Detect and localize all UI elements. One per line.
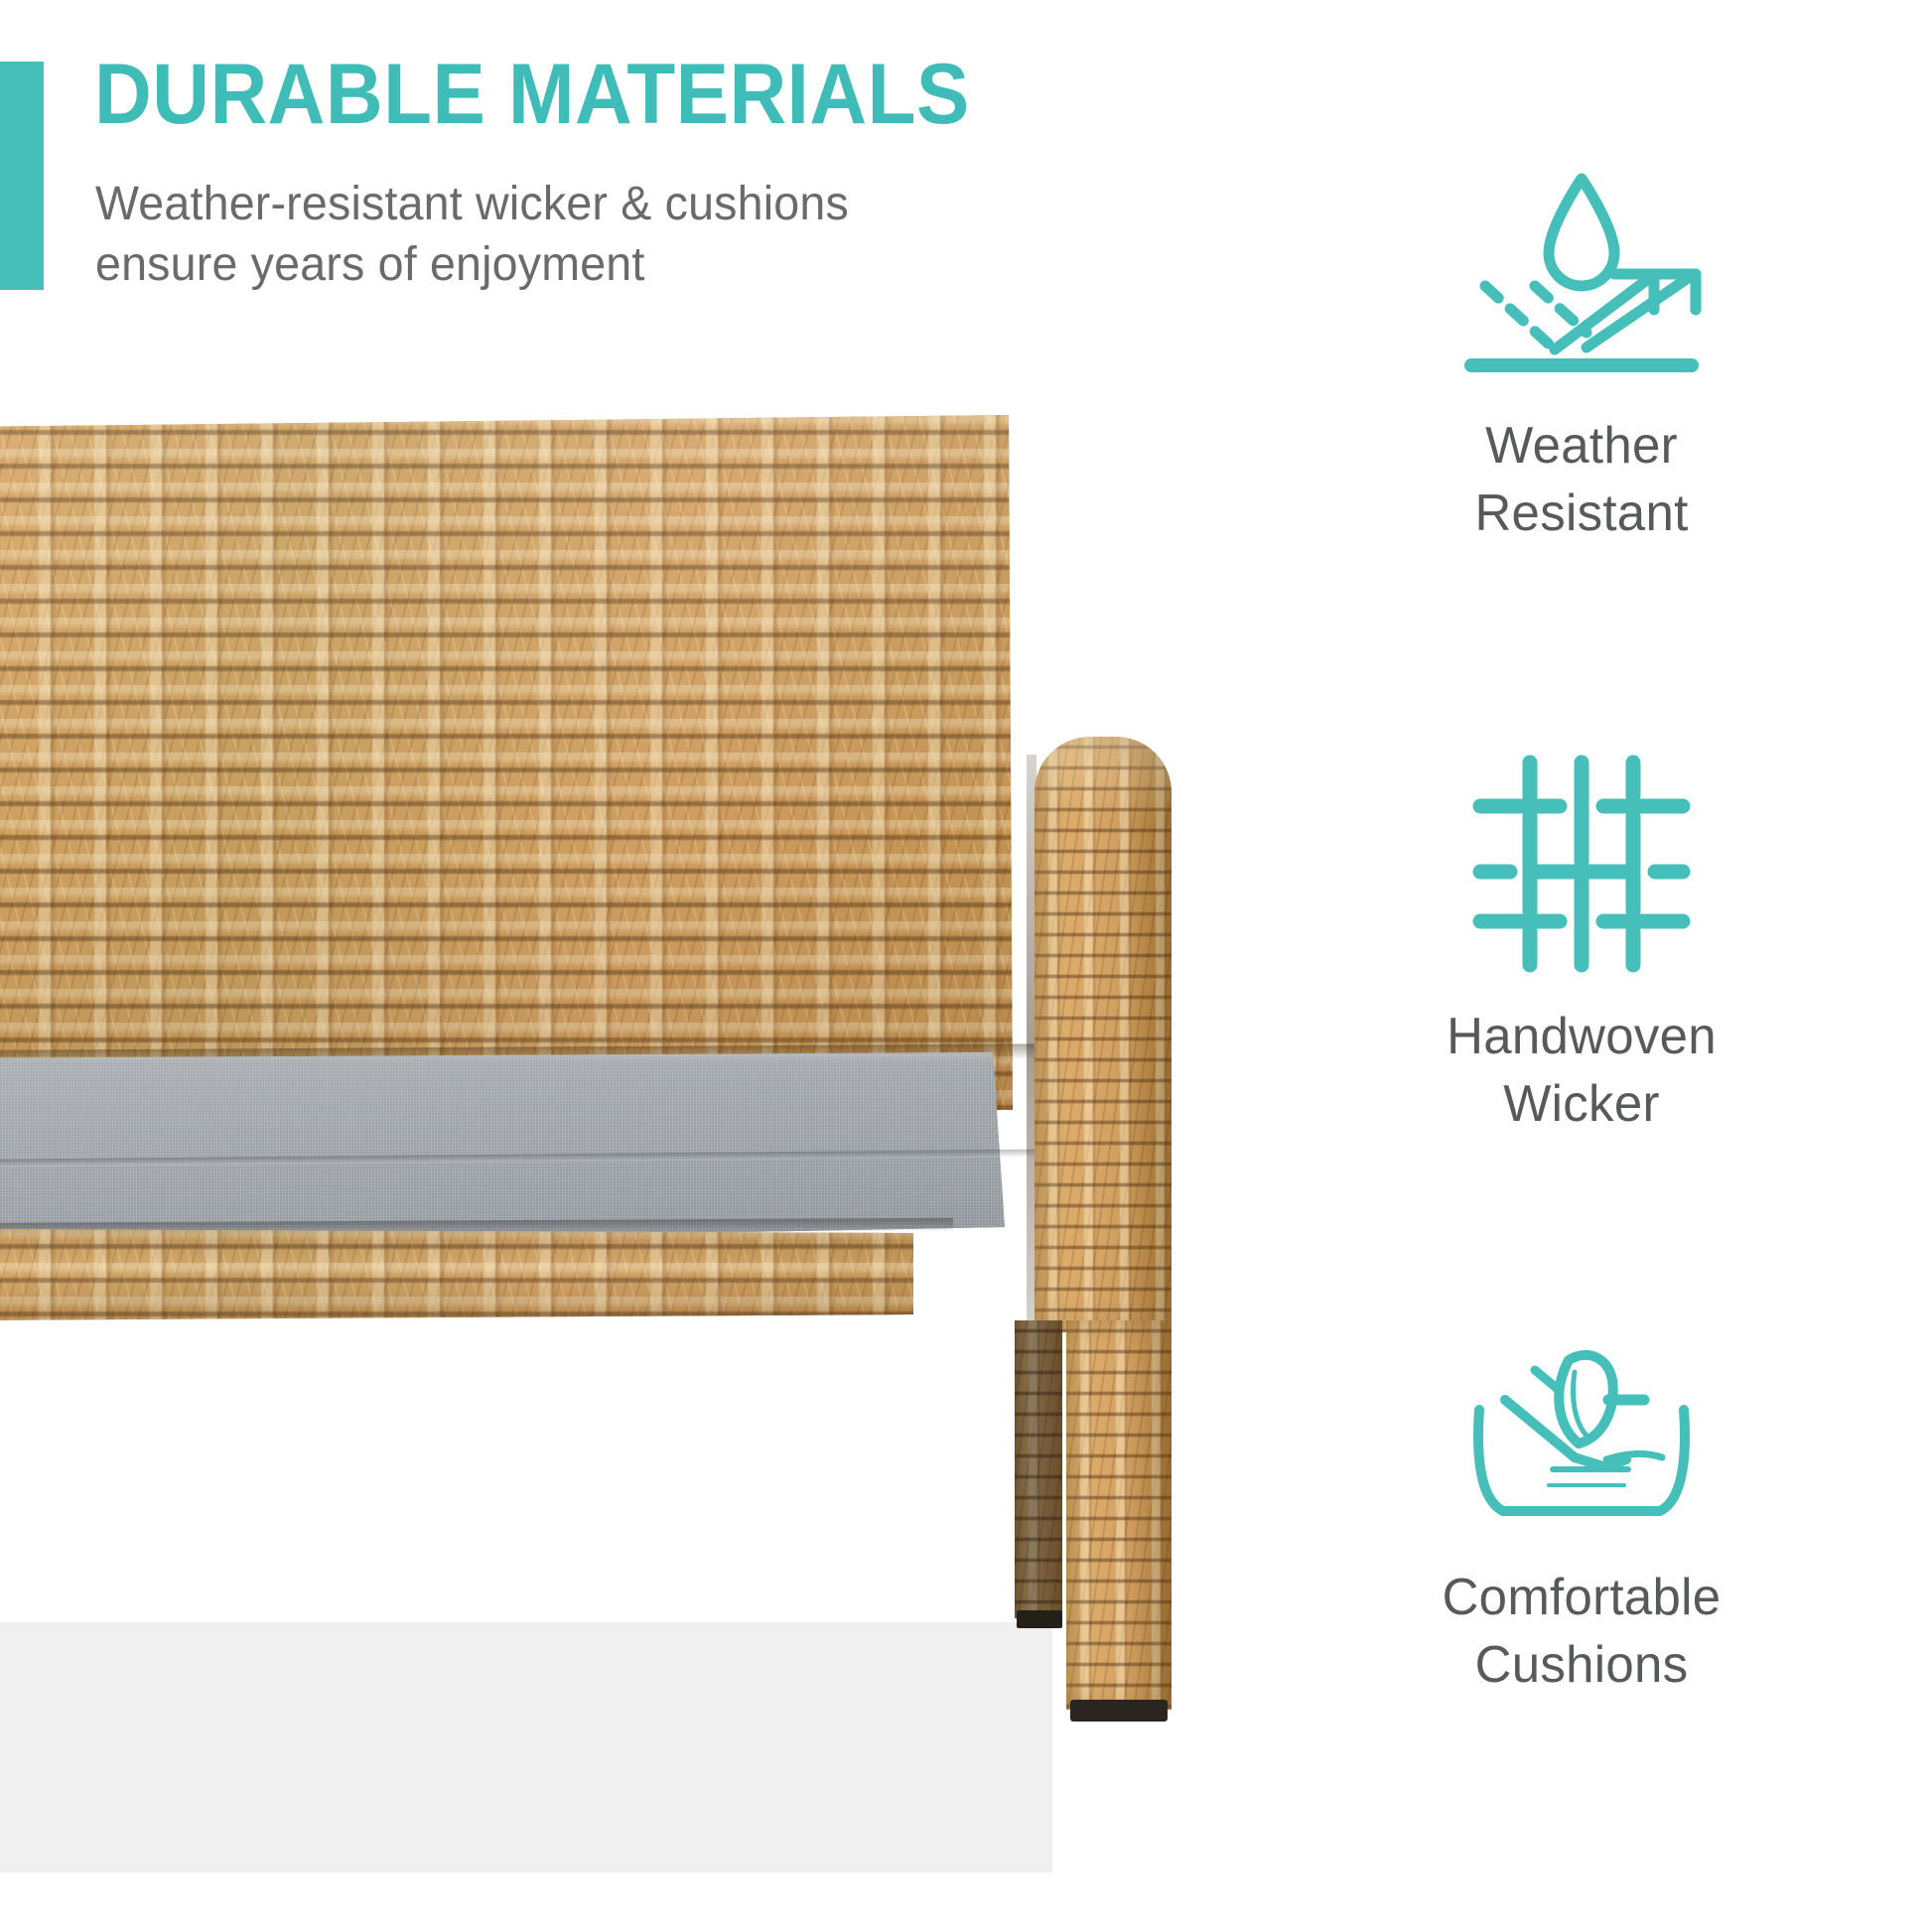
loveseat-backrest [0,415,1052,1110]
feature-label-line-2: Wicker [1238,1071,1925,1139]
feature-label-weather-resistant: Weather Resistant [1238,413,1925,547]
feature-label-handwoven-wicker: Handwoven Wicker [1238,1004,1925,1138]
feature-label-comfortable-cushions: Comfortable Cushions [1238,1565,1925,1699]
woven-lattice-icon [1231,740,1932,988]
feature-label-line-1: Comfortable [1238,1565,1925,1632]
rear-leg-foot-cap [1017,1610,1062,1628]
loveseat-rear-leg [1015,1320,1062,1618]
feature-item-comfortable-cushions: Comfortable Cushions [1231,1301,1932,1699]
feature-label-line-1: Handwoven [1238,1004,1925,1071]
loveseat-armrest [1035,737,1172,1332]
front-leg-foot-cap [1070,1700,1168,1722]
feature-label-line-2: Cushions [1238,1632,1925,1700]
feature-label-line-2: Resistant [1238,481,1925,548]
product-photo-loveseat [0,0,1231,1932]
water-droplet-repel-icon [1231,149,1932,397]
loveseat-front-leg [1066,1320,1172,1710]
loveseat-seat-frame [0,1229,953,1320]
feather-on-cushion-icon [1231,1301,1932,1549]
feature-list: Weather Resistant [1231,0,1932,1932]
product-feature-card: DURABLE MATERIALS Weather-resistant wick… [0,0,1932,1932]
feature-item-handwoven-wicker: Handwoven Wicker [1231,740,1932,1138]
feature-label-line-1: Weather [1238,413,1925,481]
feature-item-weather-resistant: Weather Resistant [1231,149,1932,547]
